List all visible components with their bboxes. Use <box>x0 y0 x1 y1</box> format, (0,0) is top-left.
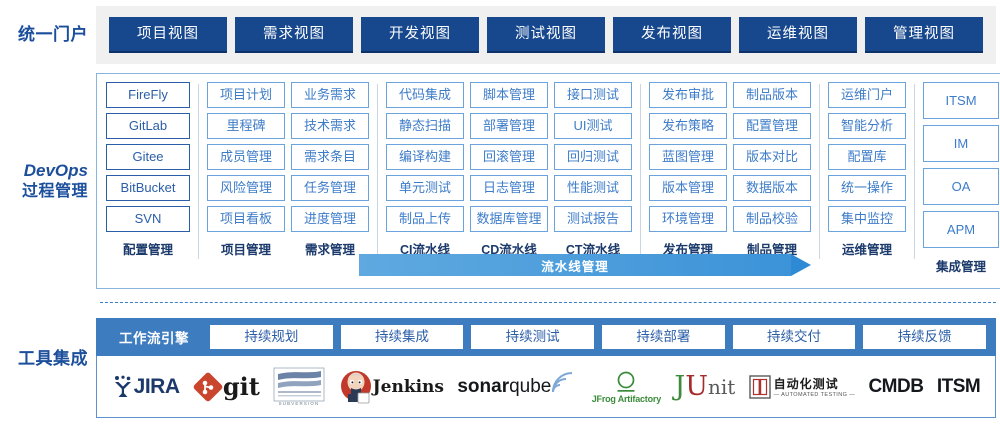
devops-column-ci-pipeline: 代码集成 静态扫描 编译构建 单元测试 制品上传 CI流水线 <box>386 82 464 258</box>
sonarqube-logo-text-bold: sonar <box>457 376 509 398</box>
devops-cell[interactable]: 成员管理 <box>207 144 285 170</box>
devops-column-project: 项目计划 里程碑 成员管理 风险管理 项目看板 项目管理 <box>207 82 285 258</box>
devops-cell[interactable]: 制品版本 <box>733 82 811 108</box>
workflow-stage-continuous-planning[interactable]: 持续规划 <box>210 325 333 349</box>
pipeline-management-arrow: 流水线管理 <box>359 254 811 276</box>
arrow-head-icon <box>791 254 811 276</box>
devops-cell[interactable]: 测试报告 <box>554 206 632 232</box>
portal-view-button-requirement[interactable]: 需求视图 <box>235 17 353 53</box>
devops-group-pipelines: 代码集成 静态扫描 编译构建 单元测试 制品上传 CI流水线 脚本管理 部署管理… <box>383 82 635 258</box>
jfrog-mark-icon <box>613 370 639 394</box>
tool-logo-strip: JIRA git <box>96 356 996 418</box>
devops-group-configuration: FireFly GitLab Gitee BitBucket SVN 配置管理 <box>103 82 193 258</box>
devops-column-title: 配置管理 <box>106 239 190 258</box>
devops-cell[interactable]: BitBucket <box>106 175 190 201</box>
devops-column-title: 运维管理 <box>828 239 906 258</box>
devops-cell[interactable]: 环境管理 <box>649 206 727 232</box>
git-mark-icon <box>193 372 223 402</box>
portal-view-button-operations[interactable]: 运维视图 <box>739 17 857 53</box>
devops-group-separator <box>198 84 199 259</box>
jfrog-artifactory-logo: JFrog Artifactory <box>592 365 661 409</box>
portal-button-bar: 项目视图 需求视图 开发视图 测试视图 发布视图 运维视图 管理视图 <box>96 6 996 64</box>
devops-column-release: 发布审批 发布策略 蓝图管理 版本管理 环境管理 发布管理 <box>649 82 727 258</box>
tool-integration-label-text: 工具集成 <box>18 349 88 368</box>
devops-cell[interactable]: Gitee <box>106 144 190 170</box>
workflow-stage-continuous-feedback[interactable]: 持续反馈 <box>863 325 986 349</box>
devops-group-separator <box>914 84 915 259</box>
workflow-engine-bar: 工作流引擎 持续规划 持续集成 持续测试 持续部署 持续交付 持续反馈 <box>96 318 996 356</box>
cmdb-logo: CMDB <box>868 365 923 409</box>
tool-integration-section: 工具集成 工作流引擎 持续规划 持续集成 持续测试 持续部署 持续交付 持续反馈 <box>0 318 1000 436</box>
portal-view-button-management[interactable]: 管理视图 <box>865 17 983 53</box>
devops-column-title: 项目管理 <box>207 239 285 258</box>
sonarqube-logo: sonar qube <box>457 365 578 409</box>
tool-integration-label: 工具集成 <box>0 318 96 369</box>
cmdb-logo-text: CMDB <box>868 376 923 398</box>
portal-view-button-release[interactable]: 发布视图 <box>613 17 731 53</box>
automated-testing-logo-text-en: — AUTOMATED TESTING — <box>774 392 855 398</box>
devops-cell[interactable]: UI测试 <box>554 113 632 139</box>
devops-column-ct-pipeline: 接口测试 UI测试 回归测试 性能测试 测试报告 CT流水线 <box>554 82 632 258</box>
devops-group-separator <box>640 84 641 259</box>
devops-column-operations: 运维门户 智能分析 配置库 统一操作 集中监控 运维管理 <box>828 82 906 258</box>
junit-logo-text-j: J <box>674 371 685 402</box>
devops-cell[interactable]: 代码集成 <box>386 82 464 108</box>
devops-cell[interactable]: 版本管理 <box>649 175 727 201</box>
subversion-mark-icon: SUBVERSION <box>273 367 325 407</box>
devops-cell[interactable]: 回滚管理 <box>470 144 548 170</box>
section-divider <box>100 302 996 303</box>
jenkins-mark-icon <box>339 368 373 406</box>
devops-cell[interactable]: SVN <box>106 206 190 232</box>
devops-cell[interactable]: 发布审批 <box>649 82 727 108</box>
devops-cell[interactable]: 蓝图管理 <box>649 144 727 170</box>
subversion-logo: SUBVERSION <box>273 365 325 409</box>
devops-cell[interactable]: 部署管理 <box>470 113 548 139</box>
devops-label-cn: 过程管理 <box>0 182 88 202</box>
devops-cell[interactable]: 配置库 <box>828 144 906 170</box>
devops-column-integration: ITSM IM OA APM 集成管理 <box>923 82 999 275</box>
itsm-logo: ITSM <box>937 365 980 409</box>
pipeline-management-arrow-label: 流水线管理 <box>359 254 791 276</box>
devops-cell[interactable]: 脚本管理 <box>470 82 548 108</box>
devops-group-integration: ITSM IM OA APM 集成管理 <box>920 82 1000 275</box>
devops-group-separator <box>377 84 378 259</box>
sonarqube-wave-icon <box>552 372 578 394</box>
devops-cell[interactable]: 里程碑 <box>207 113 285 139</box>
workflow-stage-continuous-deployment[interactable]: 持续部署 <box>602 325 725 349</box>
devops-group-separator <box>819 84 820 259</box>
jfrog-artifactory-logo-text: JFrog Artifactory <box>592 394 661 404</box>
unified-portal-label-text: 统一门户 <box>18 25 88 44</box>
jenkins-logo: Jenkins <box>339 365 444 409</box>
devops-cell[interactable]: 项目计划 <box>207 82 285 108</box>
devops-cell[interactable]: 回归测试 <box>554 144 632 170</box>
devops-cell[interactable]: 数据版本 <box>733 175 811 201</box>
devops-cell[interactable]: APM <box>923 211 999 248</box>
devops-cell[interactable]: OA <box>923 168 999 205</box>
sonarqube-logo-text-light: qube <box>509 376 551 398</box>
tool-integration-content: 工作流引擎 持续规划 持续集成 持续测试 持续部署 持续交付 持续反馈 JIRA <box>96 318 996 418</box>
devops-column-title: 集成管理 <box>923 256 999 275</box>
devops-cell[interactable]: 静态扫描 <box>386 113 464 139</box>
automated-testing-mark-icon <box>749 375 771 399</box>
workflow-stage-continuous-delivery[interactable]: 持续交付 <box>733 325 856 349</box>
automated-testing-logo: 自动化测试 — AUTOMATED TESTING — <box>749 365 855 409</box>
devops-cell[interactable]: 技术需求 <box>291 113 369 139</box>
workflow-stage-continuous-integration[interactable]: 持续集成 <box>341 325 464 349</box>
devops-cell[interactable]: 进度管理 <box>291 206 369 232</box>
devops-cell[interactable]: 风险管理 <box>207 175 285 201</box>
devops-column-cd-pipeline: 脚本管理 部署管理 回滚管理 日志管理 数据库管理 CD流水线 <box>470 82 548 258</box>
devops-cell[interactable]: 集中监控 <box>828 206 906 232</box>
devops-cell[interactable]: IM <box>923 125 999 162</box>
devops-cell[interactable]: 项目看板 <box>207 206 285 232</box>
devops-cell[interactable]: 性能测试 <box>554 175 632 201</box>
devops-group-operations: 运维门户 智能分析 配置库 统一操作 集中监控 运维管理 <box>825 82 909 258</box>
devops-cell[interactable]: 需求条目 <box>291 144 369 170</box>
devops-cell[interactable]: 智能分析 <box>828 113 906 139</box>
devops-cell[interactable]: 统一操作 <box>828 175 906 201</box>
devops-cell[interactable]: 单元测试 <box>386 175 464 201</box>
itsm-logo-text: ITSM <box>937 376 980 398</box>
git-logo: git <box>193 365 260 409</box>
devops-cell[interactable]: 配置管理 <box>733 113 811 139</box>
devops-label-en: DevOps <box>0 160 88 181</box>
devops-group-planning: 项目计划 里程碑 成员管理 风险管理 项目看板 项目管理 业务需求 技术需求 需… <box>204 82 372 258</box>
devops-column-artifact: 制品版本 配置管理 版本对比 数据版本 制品校验 制品管理 <box>733 82 811 258</box>
jenkins-logo-text: Jenkins <box>373 377 444 397</box>
jira-logo-text: JIRA <box>134 375 180 399</box>
unified-portal-section: 统一门户 项目视图 需求视图 开发视图 测试视图 发布视图 运维视图 管理视图 <box>0 6 1000 64</box>
portal-view-button-project[interactable]: 项目视图 <box>109 17 227 53</box>
devops-cell[interactable]: 日志管理 <box>470 175 548 201</box>
devops-cell[interactable]: 运维门户 <box>828 82 906 108</box>
devops-column-title: 需求管理 <box>291 239 369 258</box>
devops-process-section: DevOps 过程管理 FireFly GitLab Gitee BitBuck… <box>0 72 1000 290</box>
devops-cell[interactable]: 数据库管理 <box>470 206 548 232</box>
devops-label: DevOps 过程管理 <box>0 160 96 201</box>
devops-cell[interactable]: 接口测试 <box>554 82 632 108</box>
devops-capability-grid: FireFly GitLab Gitee BitBucket SVN 配置管理 … <box>96 73 1000 289</box>
automated-testing-logo-text-cn: 自动化测试 <box>774 375 839 392</box>
devops-column-requirement: 业务需求 技术需求 需求条目 任务管理 进度管理 需求管理 <box>291 82 369 258</box>
devops-cell[interactable]: GitLab <box>106 113 190 139</box>
devops-cell[interactable]: ITSM <box>923 82 999 119</box>
workflow-engine-label: 工作流引擎 <box>102 327 206 347</box>
devops-column-configuration: FireFly GitLab Gitee BitBucket SVN 配置管理 <box>106 82 190 258</box>
jira-logo: JIRA <box>112 365 180 409</box>
git-logo-text: git <box>223 372 260 401</box>
junit-logo-text-rest: nit <box>708 375 735 399</box>
devops-cell[interactable]: 业务需求 <box>291 82 369 108</box>
junit-logo: J U nit <box>674 365 735 409</box>
workflow-stage-continuous-testing[interactable]: 持续测试 <box>471 325 594 349</box>
devops-group-delivery: 发布审批 发布策略 蓝图管理 版本管理 环境管理 发布管理 制品版本 配置管理 … <box>646 82 814 258</box>
devops-cell[interactable]: 版本对比 <box>733 144 811 170</box>
unified-portal-label: 统一门户 <box>0 24 96 45</box>
devops-cell[interactable]: 发布策略 <box>649 113 727 139</box>
devops-cell[interactable]: 编译构建 <box>386 144 464 170</box>
portal-view-button-development[interactable]: 开发视图 <box>361 17 479 53</box>
portal-view-button-test[interactable]: 测试视图 <box>487 17 605 53</box>
devops-cell[interactable]: 任务管理 <box>291 175 369 201</box>
junit-logo-text-u: U <box>685 371 708 402</box>
devops-cell[interactable]: 制品校验 <box>733 206 811 232</box>
subversion-logo-text: SUBVERSION <box>279 401 320 406</box>
jira-mark-icon <box>112 375 134 399</box>
devops-cell[interactable]: FireFly <box>106 82 190 108</box>
devops-cell[interactable]: 制品上传 <box>386 206 464 232</box>
